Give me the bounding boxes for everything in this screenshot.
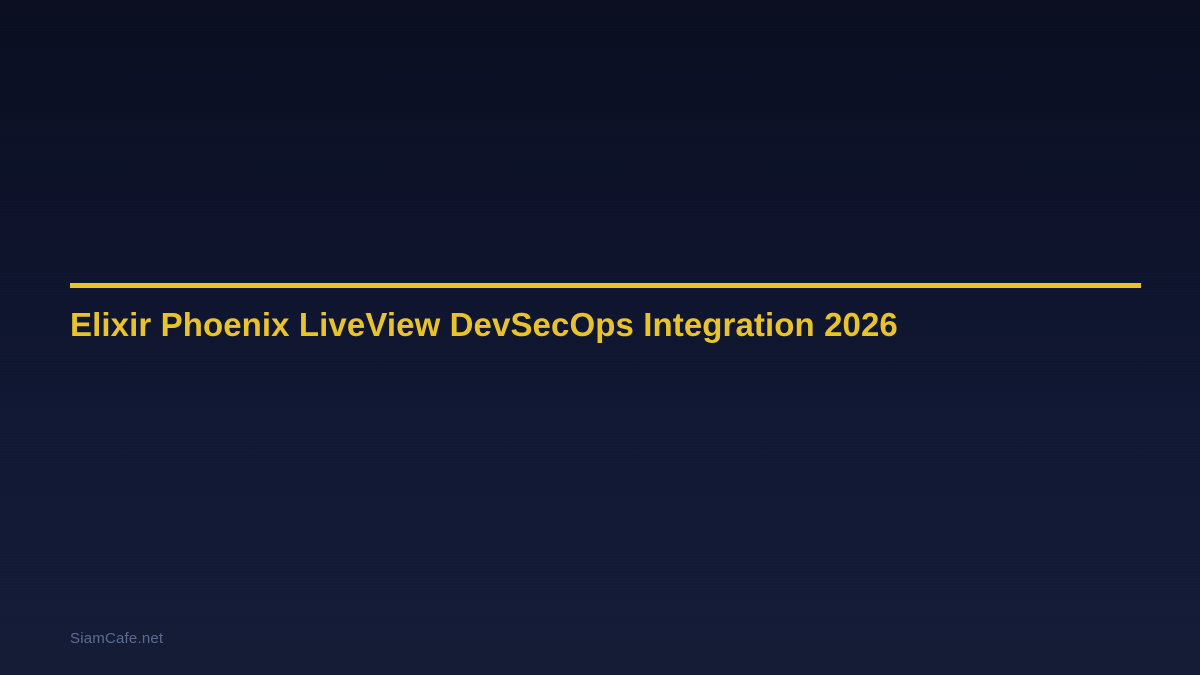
title-block: Elixir Phoenix LiveView DevSecOps Integr… (70, 283, 1141, 345)
page-title: Elixir Phoenix LiveView DevSecOps Integr… (70, 288, 1141, 345)
footer: SiamCafe.net (70, 630, 163, 648)
footer-brand-label: SiamCafe.net (70, 630, 163, 647)
title-slide: Elixir Phoenix LiveView DevSecOps Integr… (0, 0, 1200, 675)
